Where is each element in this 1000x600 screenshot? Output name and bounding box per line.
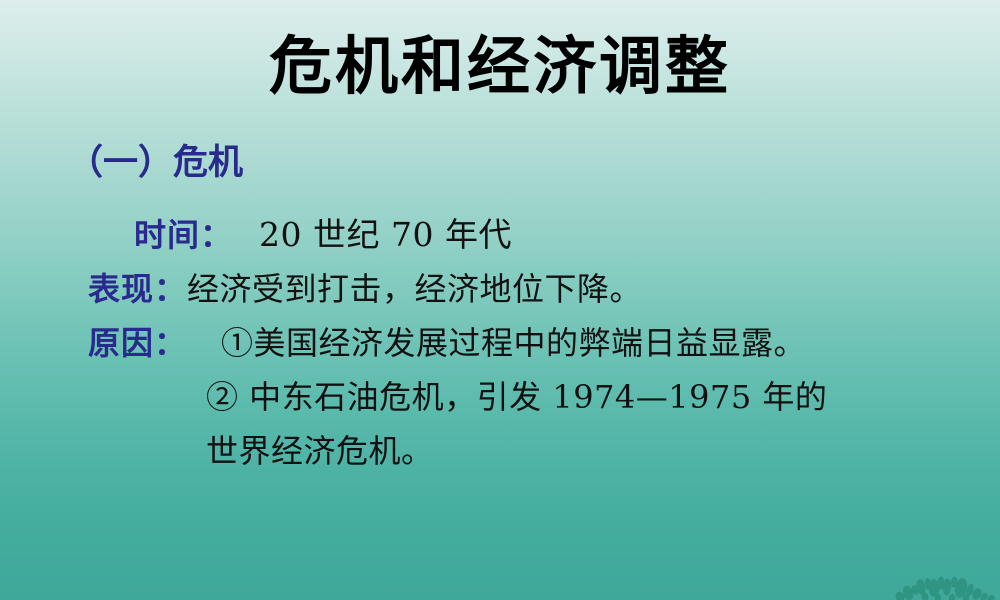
body-line-cause-second: ② 中东石油危机，引发 1974—1975 年的 bbox=[0, 370, 1000, 424]
body-content: 时间：20 世纪 70 年代 表现：经济受到打击，经济地位下降。 原因：①美国经… bbox=[0, 208, 1000, 478]
line-content-manifestation: 经济受到打击，经济地位下降。 bbox=[187, 270, 642, 308]
line-label-manifestation: 表现： bbox=[88, 270, 187, 308]
line-label-time: 时间： bbox=[134, 216, 233, 254]
slide-title: 危机和经济调整 bbox=[0, 24, 1000, 108]
body-line-manifestation: 表现：经济受到打击，经济地位下降。 bbox=[0, 262, 1000, 316]
line-label-cause: 原因： bbox=[88, 324, 187, 362]
line-content-time: 20 世纪 70 年代 bbox=[259, 215, 512, 254]
body-line-cause-second-cont: 世界经济危机。 bbox=[0, 424, 1000, 478]
line-content-cause-second-cont: 世界经济危机。 bbox=[206, 432, 434, 470]
line-content-cause-second: ② 中东石油危机，引发 1974—1975 年的 bbox=[206, 378, 827, 416]
line-content-cause-first: ①美国经济发展过程中的弊端日益显露。 bbox=[221, 324, 806, 362]
leaf-cluster-icon bbox=[888, 566, 998, 600]
section-heading: （一）危机 bbox=[68, 140, 243, 186]
body-line-cause-first: 原因：①美国经济发展过程中的弊端日益显露。 bbox=[0, 316, 1000, 370]
body-line-time: 时间：20 世纪 70 年代 bbox=[0, 208, 1000, 262]
slide-canvas: 危机和经济调整 （一）危机 时间：20 世纪 70 年代 表现：经济受到打击，经… bbox=[0, 0, 1000, 600]
